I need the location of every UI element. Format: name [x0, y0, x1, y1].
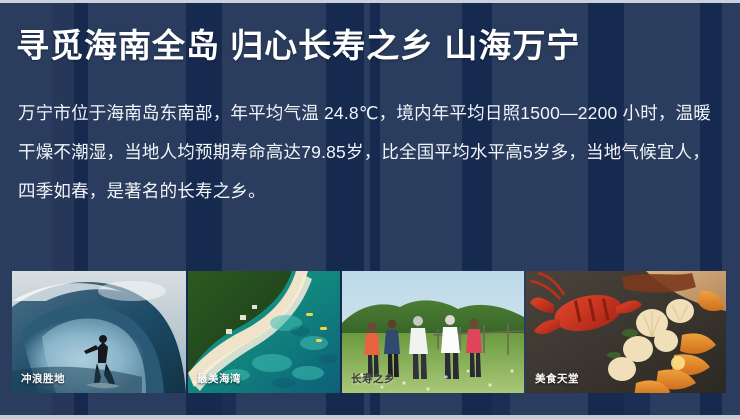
- photo-card-longevity[interactable]: 长寿之乡: [342, 271, 524, 393]
- photo-card-surfing[interactable]: 冲浪胜地: [12, 271, 186, 393]
- photo-caption: 美食天堂: [535, 371, 579, 386]
- photo-card-seafood[interactable]: 美食天堂: [526, 271, 726, 393]
- top-edge-rule: [0, 0, 740, 3]
- photo-card-bay[interactable]: 最美海湾: [188, 271, 340, 393]
- photo-caption: 长寿之乡: [351, 371, 395, 386]
- body-paragraph: 万宁市位于海南岛东南部，年平均气温 24.8℃，境内年平均日照1500—2200…: [18, 94, 724, 211]
- photo-strip: 冲浪胜地: [12, 271, 726, 393]
- slide-root: 寻觅海南全岛 归心长寿之乡 山海万宁 万宁市位于海南岛东南部，年平均气温 24.…: [0, 0, 740, 419]
- photo-caption: 最美海湾: [197, 371, 241, 386]
- bottom-edge-rule: [0, 415, 740, 419]
- page-title: 寻觅海南全岛 归心长寿之乡 山海万宁: [16, 24, 580, 69]
- photo-caption: 冲浪胜地: [21, 371, 65, 386]
